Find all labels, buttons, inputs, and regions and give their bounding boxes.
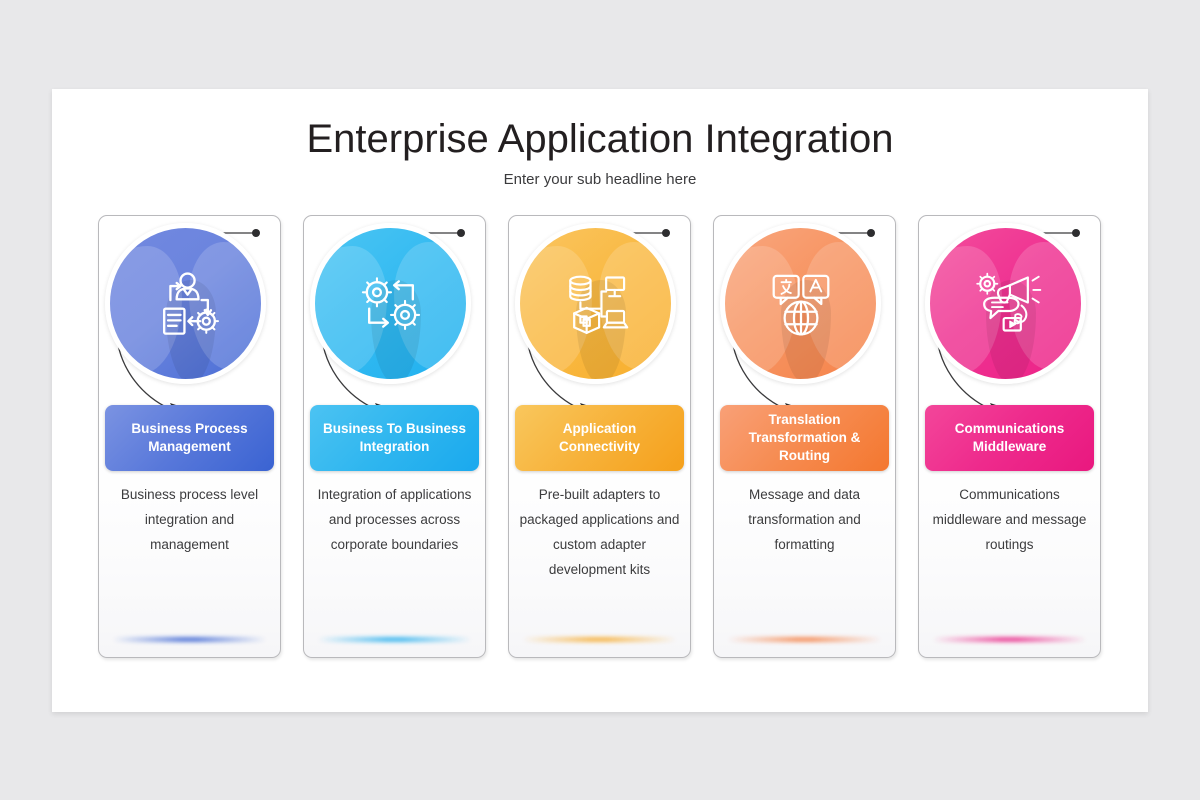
- infographic-card[interactable]: Communications Middleware Communications…: [918, 215, 1103, 660]
- translation-globe-icon: [725, 228, 876, 379]
- business-process-person-gear-icon: [110, 228, 261, 379]
- card-label[interactable]: Communications Middleware: [925, 405, 1094, 471]
- icon-circle-wrap: [515, 223, 686, 394]
- icon-circle: [310, 223, 471, 384]
- infographic-card[interactable]: Application Connectivity Pre-built adapt…: [508, 215, 693, 660]
- card-label[interactable]: Translation Transformation & Routing: [720, 405, 889, 471]
- infographic-card[interactable]: Business To Business Integration Integra…: [303, 215, 488, 660]
- icon-circle-wrap: [925, 223, 1096, 394]
- card-description: Business process level integration and m…: [107, 483, 272, 558]
- card-label[interactable]: Business Process Management: [105, 405, 274, 471]
- card-accent-line: [727, 637, 882, 642]
- network-database-devices-icon: [520, 228, 671, 379]
- card-description: Communications middleware and message ro…: [927, 483, 1092, 558]
- card-description: Pre-built adapters to packaged applicati…: [517, 483, 682, 583]
- icon-circle-wrap: [310, 223, 481, 394]
- page-subtitle: Enter your sub headline here: [52, 171, 1148, 188]
- icon-circle-wrap: [105, 223, 276, 394]
- card-description: Message and data transformation and form…: [722, 483, 887, 558]
- slide-canvas: Enterprise Application Integration Enter…: [52, 89, 1148, 712]
- infographic-card[interactable]: Translation Transformation & Routing Mes…: [713, 215, 898, 660]
- icon-circle: [925, 223, 1086, 384]
- card-description: Integration of applications and processe…: [312, 483, 477, 558]
- card-accent-line: [112, 637, 267, 642]
- megaphone-communication-icon: [930, 228, 1081, 379]
- icon-circle: [720, 223, 881, 384]
- infographic-card-row: Business Process Management Business pro…: [98, 215, 1104, 665]
- card-accent-line: [932, 637, 1087, 642]
- icon-circle: [105, 223, 266, 384]
- page-title: Enterprise Application Integration: [52, 117, 1148, 162]
- icon-circle-wrap: [720, 223, 891, 394]
- infographic-card[interactable]: Business Process Management Business pro…: [98, 215, 283, 660]
- card-label[interactable]: Business To Business Integration: [310, 405, 479, 471]
- card-accent-line: [522, 637, 677, 642]
- card-label[interactable]: Application Connectivity: [515, 405, 684, 471]
- icon-circle: [515, 223, 676, 384]
- card-accent-line: [317, 637, 472, 642]
- two-gears-cycle-icon: [315, 228, 466, 379]
